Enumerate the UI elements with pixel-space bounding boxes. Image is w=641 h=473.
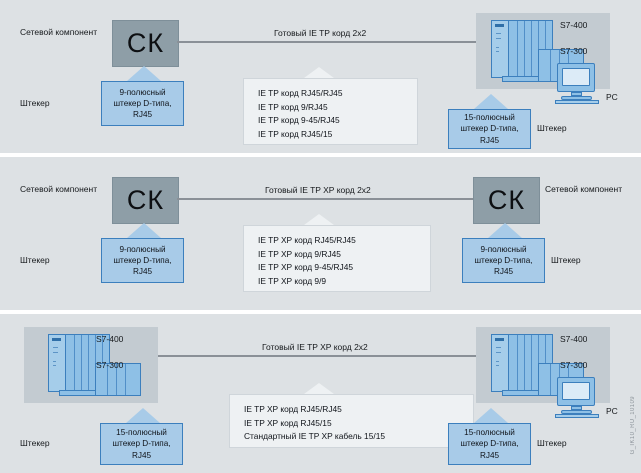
pc-workstation-icon [551,63,603,105]
rack-slot [74,335,75,391]
plug-caption-left: Штекер [20,99,50,109]
cpu-tick [496,361,499,362]
callout-line: IE TP корд RJ45/RJ45 [258,87,417,101]
plug-box-right: 15-полюсный штекер D-типа, RJ45 [448,423,531,465]
network-component-symbol: СК [127,185,164,216]
plug-caption-right: Штекер [551,256,581,266]
plug-line: штекер D-типа, [112,438,170,449]
plug-caption-left: Штекер [20,256,50,266]
callout-line: IE TP корд 9/RJ45 [258,101,417,115]
plug-line: 9-полюсный [119,244,165,255]
plug-line: штекер D-типа, [113,255,171,266]
plug-line: штекер D-типа, [113,98,171,109]
s7-400-label: S7-400 [560,20,587,30]
plug-caption-left: Штекер [20,439,50,449]
pc-screen [562,382,590,400]
plug-line: штекер D-типа, [474,255,532,266]
plug-line: RJ45 [480,135,499,146]
cpu-module [492,21,509,77]
network-component-caption-left: Сетевой компонент [20,28,97,38]
panel-ie-tp-xp-cord-plc: S7-400 S7-300 Готовый IE TP XP корд 2x2 … [0,314,641,473]
plug-line: 15-полюсный [464,112,515,123]
callout-cord-list: IE TP XP корд RJ45/RJ45 IE TP XP корд 9/… [243,225,431,292]
cpu-tick [496,347,501,348]
network-component-box-left: СК [112,20,179,67]
cpu-tick [496,38,501,39]
network-component-box-left: СК [112,177,179,224]
callout-line: IE TP корд 9-45/RJ45 [258,114,417,128]
callout-cord-list: IE TP XP корд RJ45/RJ45 IE TP XP корд RJ… [229,394,474,448]
pc-label: PC [606,407,618,417]
callout-line: IE TP XP корд 9/RJ45 [258,248,430,262]
cpu-tick [496,365,499,366]
link-label: Готовый IE TP XP корд 2x2 [265,186,371,196]
plug-caption-right: Штекер [537,439,567,449]
diagram-sheet: Сетевой компонент СК Готовый IE TP корд … [0,0,641,473]
cpu-tick [496,47,499,48]
link-label: Готовый IE TP XP корд 2x2 [262,343,368,353]
cpu-tick [496,33,501,34]
cable-link [177,41,480,43]
s7-400-label: S7-400 [560,334,587,344]
plc-rack-group-left [24,327,158,403]
plug-line: RJ45 [494,266,513,277]
rack-slot [517,21,518,77]
plug-arrow-icon-right [474,408,508,423]
plug-line: 9-полюсный [119,87,165,98]
cable-link [158,355,480,357]
pc-monitor [557,63,595,92]
cpu-tick [53,361,56,362]
network-component-caption-left: Сетевой компонент [20,185,97,195]
plug-box-left: 9-полюсный штекер D-типа, RJ45 [101,238,184,283]
network-component-box-right: СК [473,177,540,224]
panel-ie-tp-xp-cord: Сетевой компонент СК Готовый IE TP XP ко… [0,157,641,310]
plug-arrow-icon-left [127,66,161,81]
s7-400-label: S7-400 [96,334,123,344]
plug-caption-right: Штекер [537,124,567,134]
plug-line: 9-полюсный [480,244,526,255]
callout-line: IE TP XP корд RJ45/15 [244,417,473,431]
plug-line: RJ45 [132,450,151,461]
cpu-tick [496,352,501,353]
rack-slot [531,335,532,391]
plug-line: RJ45 [480,450,499,461]
callout-line: IE TP корд RJ45/15 [258,128,417,142]
s7-300-label: S7-300 [96,360,123,370]
plug-arrow-icon-right [474,94,508,109]
cpu-module [49,335,66,391]
rack-slot [524,335,525,391]
rack-slot [125,364,126,395]
cable-link [177,198,473,200]
callout-line: IE TP XP корд 9-45/RJ45 [258,261,430,275]
network-component-symbol: СК [127,28,164,59]
plug-box-left: 9-полюсный штекер D-типа, RJ45 [101,81,184,126]
callout-notch [304,383,334,394]
rack-slot [81,335,82,391]
plug-box-right: 9-полюсный штекер D-типа, RJ45 [462,238,545,283]
plug-line: 15-полюсный [116,427,167,438]
cpu-led-icon [495,24,504,27]
cpu-tick [496,51,499,52]
plug-line: штекер D-типа, [460,438,518,449]
pc-screen [562,68,590,86]
pc-keyboard [555,100,599,104]
s7-300-label: S7-300 [560,360,587,370]
pc-label: PC [606,93,618,103]
plug-box-left: 15-полюсный штекер D-типа, RJ45 [100,423,183,465]
callout-line: IE TP XP корд RJ45/RJ45 [258,234,430,248]
pc-keyboard [555,414,599,418]
callout-line: IE TP XP корд RJ45/RJ45 [244,403,473,417]
cpu-module [492,335,509,391]
network-component-caption-right: Сетевой компонент [545,185,622,195]
watermark-code: G_IK10_RU_10109 [630,396,636,454]
callout-line: IE TP XP корд 9/9 [258,275,430,289]
plug-line: RJ45 [133,109,152,120]
cpu-tick [53,347,58,348]
rack-slot [524,21,525,77]
cpu-tick [53,365,56,366]
pc-monitor [557,377,595,406]
cpu-led-icon [52,338,61,341]
callout-line: Стандартный IE TP XP кабель 15/15 [244,430,473,444]
network-component-symbol: СК [488,185,525,216]
plug-line: 15-полюсный [464,427,515,438]
link-label: Готовый IE TP корд 2x2 [274,29,366,39]
plug-arrow-icon-left [126,408,160,423]
plug-arrow-icon-right [488,223,522,238]
callout-cord-list: IE TP корд RJ45/RJ45 IE TP корд 9/RJ45 I… [243,78,418,145]
rack-slot [531,21,532,77]
pc-workstation-icon [551,377,603,419]
panel-ie-tp-cord: Сетевой компонент СК Готовый IE TP корд … [0,0,641,153]
rack-slot [517,335,518,391]
plug-line: штекер D-типа, [460,123,518,134]
s7-300-label: S7-300 [560,46,587,56]
plug-line: RJ45 [133,266,152,277]
plug-box-right: 15-полюсный штекер D-типа, RJ45 [448,109,531,149]
callout-notch [304,67,334,78]
cpu-tick [53,352,58,353]
plug-arrow-icon-left [127,223,161,238]
rack-slot [88,335,89,391]
callout-notch [304,214,334,225]
cpu-led-icon [495,338,504,341]
